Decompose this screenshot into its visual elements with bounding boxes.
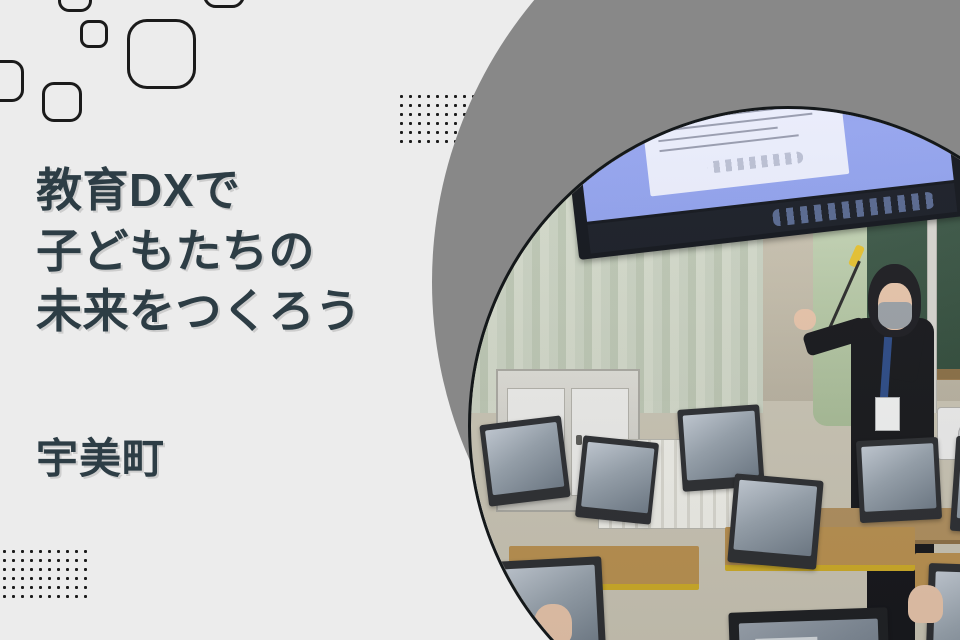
student-hand xyxy=(908,585,943,623)
laptop-screen xyxy=(734,480,818,557)
slide-answer-options xyxy=(707,151,804,174)
laptop-screen xyxy=(683,410,760,480)
student-laptop xyxy=(856,437,943,524)
foreground-laptop xyxy=(728,607,892,640)
laptop-screen xyxy=(738,618,882,640)
rounded-square-decoration xyxy=(42,82,82,122)
quiz-slide xyxy=(641,109,849,197)
laptop-screen xyxy=(861,443,937,512)
laptop-screen xyxy=(580,441,653,513)
student-laptop xyxy=(575,435,659,525)
teacher-left-hand xyxy=(794,309,816,331)
student-laptop xyxy=(727,473,823,569)
classroom-photo: THE CHERRY ON THE CAKE xyxy=(468,106,960,640)
poster-canvas: THE CHERRY ON THE CAKE xyxy=(0,0,960,640)
laptop-screen xyxy=(485,421,565,494)
rounded-square-decoration xyxy=(0,60,24,102)
rounded-square-decoration xyxy=(127,19,196,89)
rounded-square-decoration xyxy=(58,0,92,12)
classroom-photo-inner: THE CHERRY ON THE CAKE xyxy=(471,109,960,640)
page-title: 教育DXで 子どもたちの 未来をつくろう xyxy=(36,160,466,342)
organization-name: 宇美町 xyxy=(36,425,165,486)
classroom-scene: THE CHERRY ON THE CAKE xyxy=(471,109,960,640)
dot-grid-bottom-decoration xyxy=(0,547,90,604)
teacher-id-card xyxy=(875,397,900,431)
slide-text-line xyxy=(657,113,812,133)
laptop-screen xyxy=(956,443,960,524)
student-laptop xyxy=(479,415,571,507)
face-mask-icon xyxy=(878,302,912,329)
cabinet-knob xyxy=(576,435,582,445)
rounded-square-decoration xyxy=(80,20,108,48)
student-hand xyxy=(534,604,572,640)
rounded-square-decoration xyxy=(203,0,245,8)
